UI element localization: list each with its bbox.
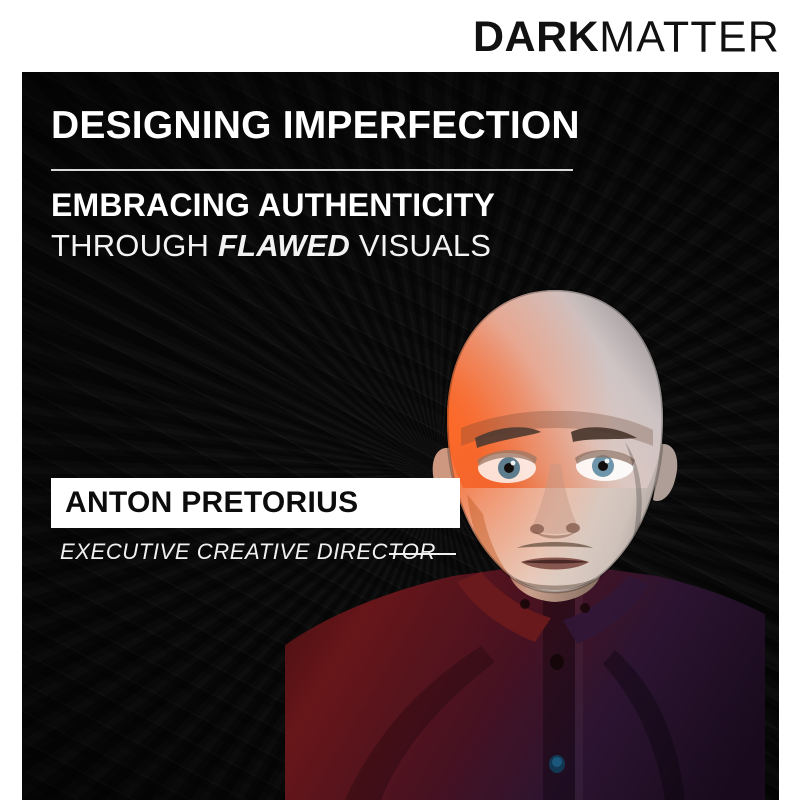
poster-canvas: DARKMATTER DESIGNING IMPERFECTION EMBRAC…	[0, 0, 800, 800]
page-title: DESIGNING IMPERFECTION	[51, 106, 580, 145]
title-divider	[51, 169, 573, 171]
speaker-nameplate: ANTON PRETORIUS	[51, 478, 460, 528]
speaker-name: ANTON PRETORIUS	[51, 488, 358, 518]
brand-logo-light: MATTER	[599, 15, 780, 59]
subtitle-prefix: THROUGH	[51, 228, 218, 263]
brand-logo: DARKMATTER	[480, 14, 780, 60]
brand-logo-bold: DARK	[473, 16, 599, 59]
role-dash-rule	[389, 553, 456, 555]
speaker-role: EXECUTIVE CREATIVE DIRECTOR	[60, 541, 436, 563]
subtitle-line-1: EMBRACING AUTHENTICITY	[51, 189, 495, 221]
